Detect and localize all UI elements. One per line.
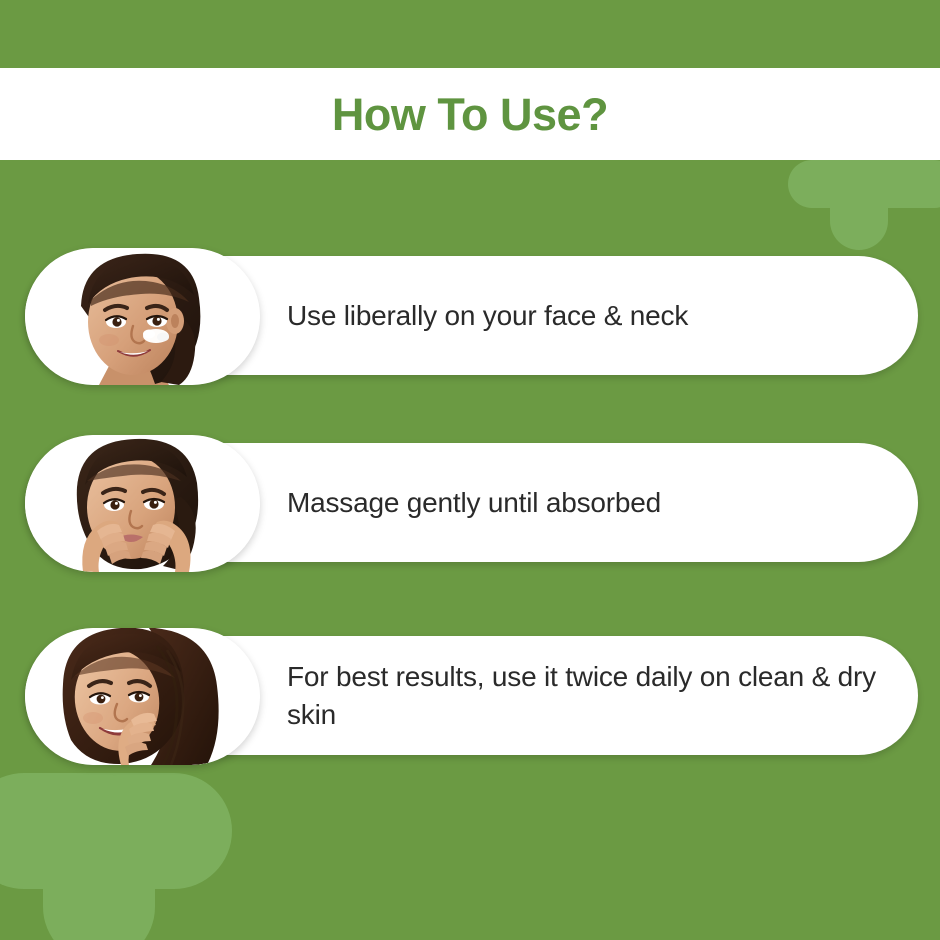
step-text: For best results, use it twice daily on …	[287, 658, 878, 732]
woman-massaging-face-illustration	[25, 435, 260, 572]
step-row: Use liberally on your face & neck	[0, 248, 940, 388]
step-photo-clip	[25, 248, 260, 385]
how-to-use-infographic: How To Use? Use liberally on your face &…	[0, 0, 940, 940]
step-photo-twice-daily	[25, 628, 260, 765]
page-title: How To Use?	[332, 92, 608, 137]
step-photo-apply-cream	[25, 248, 260, 385]
decor-shape-top-right-vertical	[830, 160, 888, 250]
step-photo-clip	[25, 435, 260, 572]
smiling-woman-touching-cheek-illustration	[25, 628, 260, 765]
step-text: Massage gently until absorbed	[287, 484, 661, 521]
decor-shape-bottom-left-vertical	[43, 773, 155, 940]
step-photo-clip	[25, 628, 260, 765]
step-row: Massage gently until absorbed	[0, 435, 940, 575]
header-band: How To Use?	[0, 68, 940, 160]
step-text: Use liberally on your face & neck	[287, 297, 688, 334]
step-row: For best results, use it twice daily on …	[0, 628, 940, 768]
step-photo-massage	[25, 435, 260, 572]
woman-applying-cream-illustration	[25, 248, 260, 385]
